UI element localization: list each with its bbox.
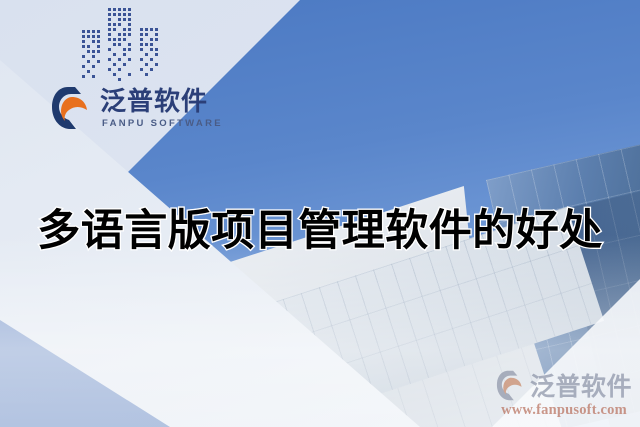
fanpu-logo-mark-icon [51, 86, 93, 130]
brand-logo-wordmark: 泛普软件 FANPU SOFTWARE [100, 88, 223, 129]
watermark-url: www.fanpusoft.com [501, 402, 627, 419]
watermark-brand-name: 泛普软件 [530, 367, 632, 403]
watermark: 泛普软件 www.fanpusoft.com [496, 367, 632, 419]
brand-name-en: FANPU SOFTWARE [102, 119, 223, 129]
brand-name-cn: 泛普软件 [100, 88, 223, 114]
page-title: 多语言版项目管理软件的好处 [0, 196, 640, 258]
fanpu-logo-mark-icon [496, 370, 526, 401]
promo-banner: 泛普软件 FANPU SOFTWARE 多语言版项目管理软件的好处 泛普软件 w… [0, 0, 640, 427]
brand-logo: 泛普软件 FANPU SOFTWARE [51, 86, 223, 130]
pixel-city-skyline-icon [74, 4, 170, 90]
watermark-logo-row: 泛普软件 [496, 367, 632, 403]
